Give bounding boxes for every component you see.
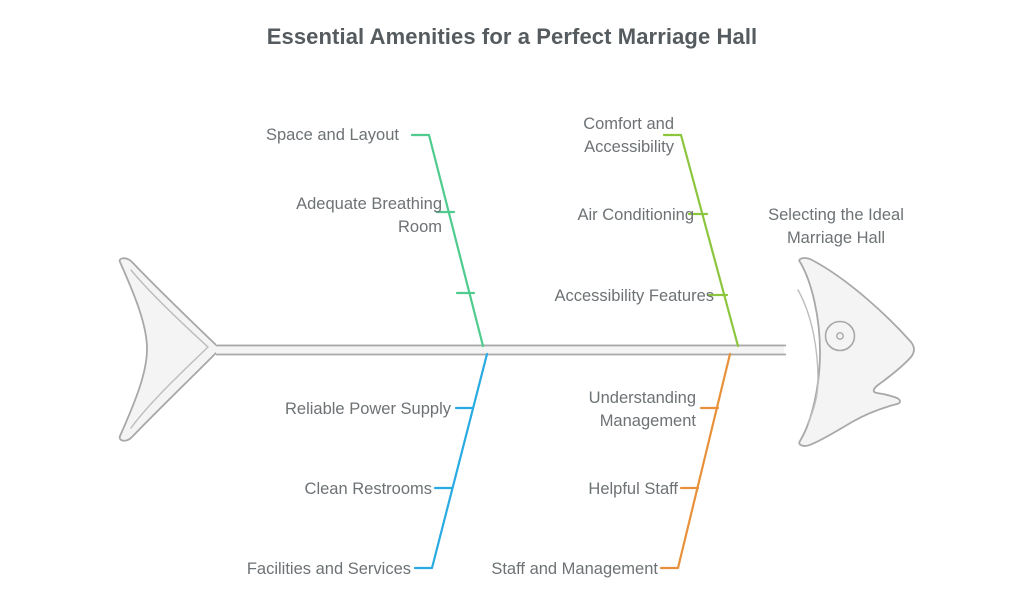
cause-label-helpful-staff: Helpful Staff	[358, 478, 678, 501]
fish-head-icon	[798, 258, 914, 446]
fishbone-spine	[216, 344, 786, 355]
fishbone-diagram: Essential Amenities for a Perfect Marria…	[0, 0, 1024, 595]
branch-comfort-and-accessibility	[664, 135, 738, 346]
branch-space-and-layout	[412, 135, 483, 346]
branch-label-comfort-and-accessibility: Comfort and Accessibility	[374, 113, 674, 159]
cause-label-understanding-management: Understanding Management	[376, 387, 696, 433]
branch-label-space-and-layout: Space and Layout	[99, 124, 399, 147]
branch-label-staff-and-management: Staff and Management	[338, 558, 658, 581]
effect-label: Selecting the Ideal Marriage Hall	[736, 204, 936, 250]
cause-label-air-conditioning: Air Conditioning	[394, 204, 694, 227]
cause-label-accessibility-features: Accessibility Features	[394, 285, 714, 308]
